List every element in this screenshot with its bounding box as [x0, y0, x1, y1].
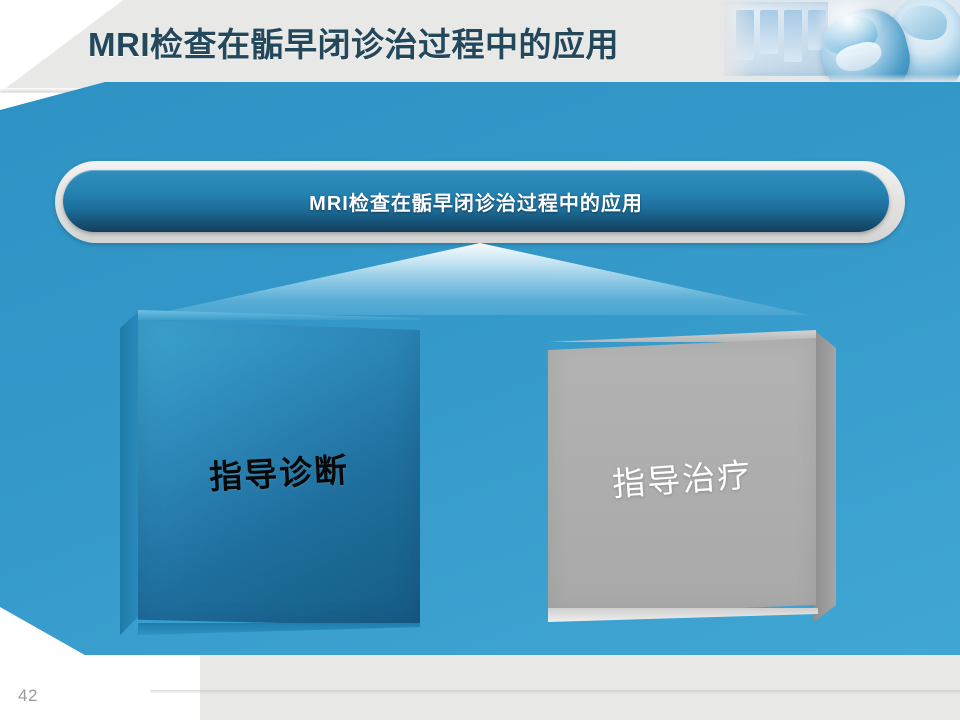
xray-film-icon: [784, 10, 802, 62]
node-guide-treatment[interactable]: 指导治疗: [548, 330, 836, 622]
diagram-title-box[interactable]: MRI检查在骺早闭诊治过程中的应用: [63, 170, 889, 232]
node-label-wrapper: 指导治疗: [548, 338, 816, 616]
node-label-guide-diagnosis: 指导诊断: [208, 443, 350, 498]
diagram-title-label: MRI检查在骺早闭诊治过程中的应用: [309, 187, 643, 216]
box-side-face: [120, 310, 140, 635]
box-side-face: [814, 330, 836, 622]
operating-room-photo: [718, 0, 960, 86]
page-number: 42: [18, 686, 38, 706]
header-band: MRI检查在骺早闭诊治过程中的应用: [0, 0, 960, 92]
xray-film-icon: [760, 10, 778, 54]
photo-highlight: [814, 0, 884, 50]
node-label-wrapper: 指导诊断: [138, 316, 420, 626]
node-guide-diagnosis[interactable]: 指导诊断: [120, 310, 420, 635]
footer-divider: [150, 690, 960, 694]
node-label-guide-treatment: 指导治疗: [610, 448, 753, 506]
page-title: MRI检查在骺早闭诊治过程中的应用: [88, 19, 708, 71]
slide-canvas: MRI检查在骺早闭诊治过程中的应用 MRI检查在骺早闭诊治过程中的应用 指导诊断…: [0, 0, 960, 720]
